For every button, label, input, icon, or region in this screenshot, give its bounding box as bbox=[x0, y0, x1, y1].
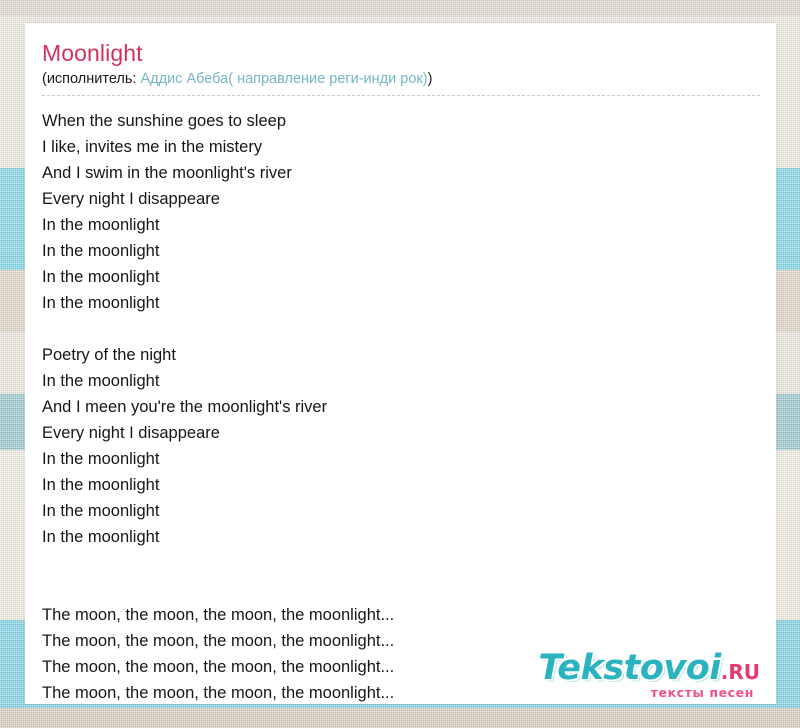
lyrics-line: Every night I disappeare bbox=[42, 186, 760, 212]
page-background: Moonlight (исполнитель: Аддис Абеба( нап… bbox=[0, 0, 800, 728]
lyrics-line: And I swim in the moonlight's river bbox=[42, 160, 760, 186]
site-logo[interactable]: Tekstovoi.RU тексты песен bbox=[538, 650, 760, 696]
artist-suffix: ) bbox=[428, 71, 433, 87]
lyrics-blank-line bbox=[42, 550, 760, 576]
band-cream-top bbox=[0, 0, 800, 16]
lyrics-blank-line bbox=[42, 576, 760, 602]
card-content: Moonlight (исполнитель: Аддис Абеба( нап… bbox=[25, 23, 776, 704]
artist-link[interactable]: Аддис Абеба( направление реги-инди рок) bbox=[140, 71, 427, 87]
lyrics-blank-line bbox=[42, 316, 760, 342]
lyrics-line: I like, invites me in the mistery bbox=[42, 134, 760, 160]
logo-wordmark: Tekstovoi.RU bbox=[538, 650, 760, 690]
lyrics-body: When the sunshine goes to sleepI like, i… bbox=[42, 108, 760, 704]
lyrics-line: In the moonlight bbox=[42, 524, 760, 550]
lyrics-line: In the moonlight bbox=[42, 446, 760, 472]
lyrics-line: Every night I disappeare bbox=[42, 420, 760, 446]
page-title: Moonlight bbox=[42, 40, 760, 67]
lyrics-line: In the moonlight bbox=[42, 290, 760, 316]
lyrics-card: Moonlight (исполнитель: Аддис Абеба( нап… bbox=[25, 23, 776, 704]
lyrics-line: In the moonlight bbox=[42, 238, 760, 264]
lyrics-line: And I meen you're the moonlight's river bbox=[42, 394, 760, 420]
band-sand-bottom bbox=[0, 708, 800, 728]
logo-word: Tekstovoi bbox=[538, 648, 720, 688]
artist-line: (исполнитель: Аддис Абеба( направление р… bbox=[42, 69, 760, 96]
lyrics-line: Poetry of the night bbox=[42, 342, 760, 368]
logo-tld: .RU bbox=[721, 660, 760, 684]
lyrics-line: In the moonlight bbox=[42, 264, 760, 290]
lyrics-line: In the moonlight bbox=[42, 472, 760, 498]
lyrics-line: The moon, the moon, the moon, the moonli… bbox=[42, 602, 760, 628]
lyrics-line: In the moonlight bbox=[42, 368, 760, 394]
lyrics-line: In the moonlight bbox=[42, 498, 760, 524]
lyrics-line: In the moonlight bbox=[42, 212, 760, 238]
lyrics-line: When the sunshine goes to sleep bbox=[42, 108, 760, 134]
artist-label: (исполнитель: bbox=[42, 71, 140, 87]
